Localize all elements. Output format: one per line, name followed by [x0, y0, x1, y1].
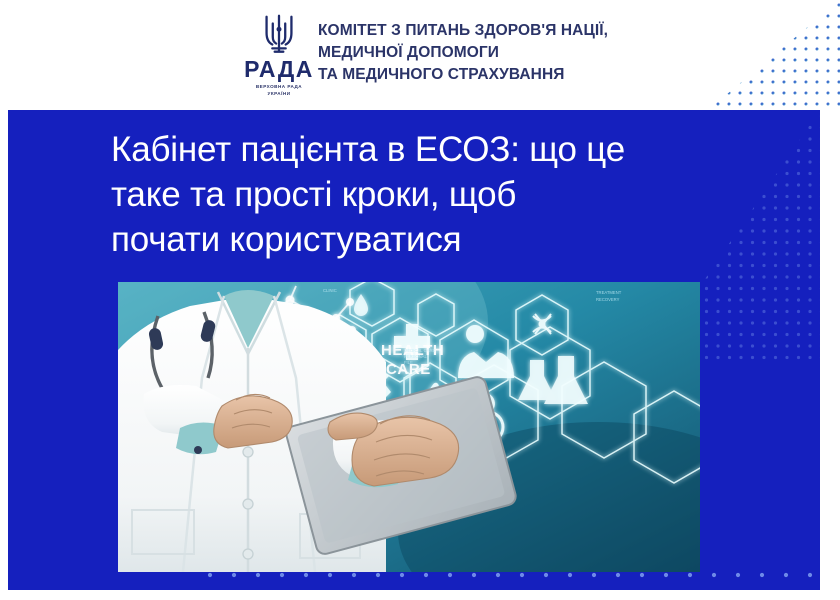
svg-text:RECOVERY: RECOVERY [596, 297, 620, 302]
ukrainian-trident-icon [259, 12, 299, 56]
hero-photo-illustration: HEALTH CARE MEDICAL CARE PERSONAL FILE P… [118, 282, 700, 572]
rada-wordmark: РАДА [240, 58, 318, 81]
rada-logo: РАДА ВЕРХОВНА РАДА УКРАЇНИ [240, 12, 318, 102]
svg-text:FILE: FILE [404, 360, 413, 365]
hero-bottom-dot-row [204, 572, 820, 578]
hero-headline-line3: почати користуватися [111, 218, 711, 263]
svg-text:MEDICAL CARE: MEDICAL CARE [404, 348, 435, 353]
hero-headline-line2: таке та прості кроки, щоб [111, 173, 711, 218]
committee-title-line2: МЕДИЧНОЇ ДОПОМОГИ [318, 42, 698, 64]
svg-text:PERSONAL: PERSONAL [404, 354, 427, 359]
slide-canvas: РАДА ВЕРХОВНА РАДА УКРАЇНИ КОМІТЕТ З ПИТ… [0, 0, 840, 600]
rada-subtitle-line1: ВЕРХОВНА РАДА [240, 84, 318, 91]
committee-title-line3: ТА МЕДИЧНОГО СТРАХУВАННЯ [318, 64, 698, 86]
rada-subtitle: ВЕРХОВНА РАДА УКРАЇНИ [240, 84, 318, 97]
committee-title-line1: КОМІТЕТ З ПИТАНЬ ЗДОРОВ'Я НАЦІЇ, [318, 20, 698, 42]
hero-headline-line1: Кабінет пацієнта в ЕСОЗ: що це [111, 128, 711, 173]
header-bar: РАДА ВЕРХОВНА РАДА УКРАЇНИ КОМІТЕТ З ПИТ… [0, 0, 840, 110]
hero-photo: HEALTH CARE MEDICAL CARE PERSONAL FILE P… [118, 282, 700, 572]
svg-text:CLINIC: CLINIC [323, 288, 337, 293]
header-dot-grid-decoration [690, 0, 840, 110]
svg-text:TREATMENT: TREATMENT [596, 290, 622, 295]
hero-panel: Кабінет пацієнта в ЕСОЗ: що це таке та п… [8, 110, 820, 590]
rada-subtitle-line2: УКРАЇНИ [240, 91, 318, 98]
hero-headline: Кабінет пацієнта в ЕСОЗ: що це таке та п… [111, 128, 711, 262]
committee-title: КОМІТЕТ З ПИТАНЬ ЗДОРОВ'Я НАЦІЇ, МЕДИЧНО… [318, 20, 698, 86]
